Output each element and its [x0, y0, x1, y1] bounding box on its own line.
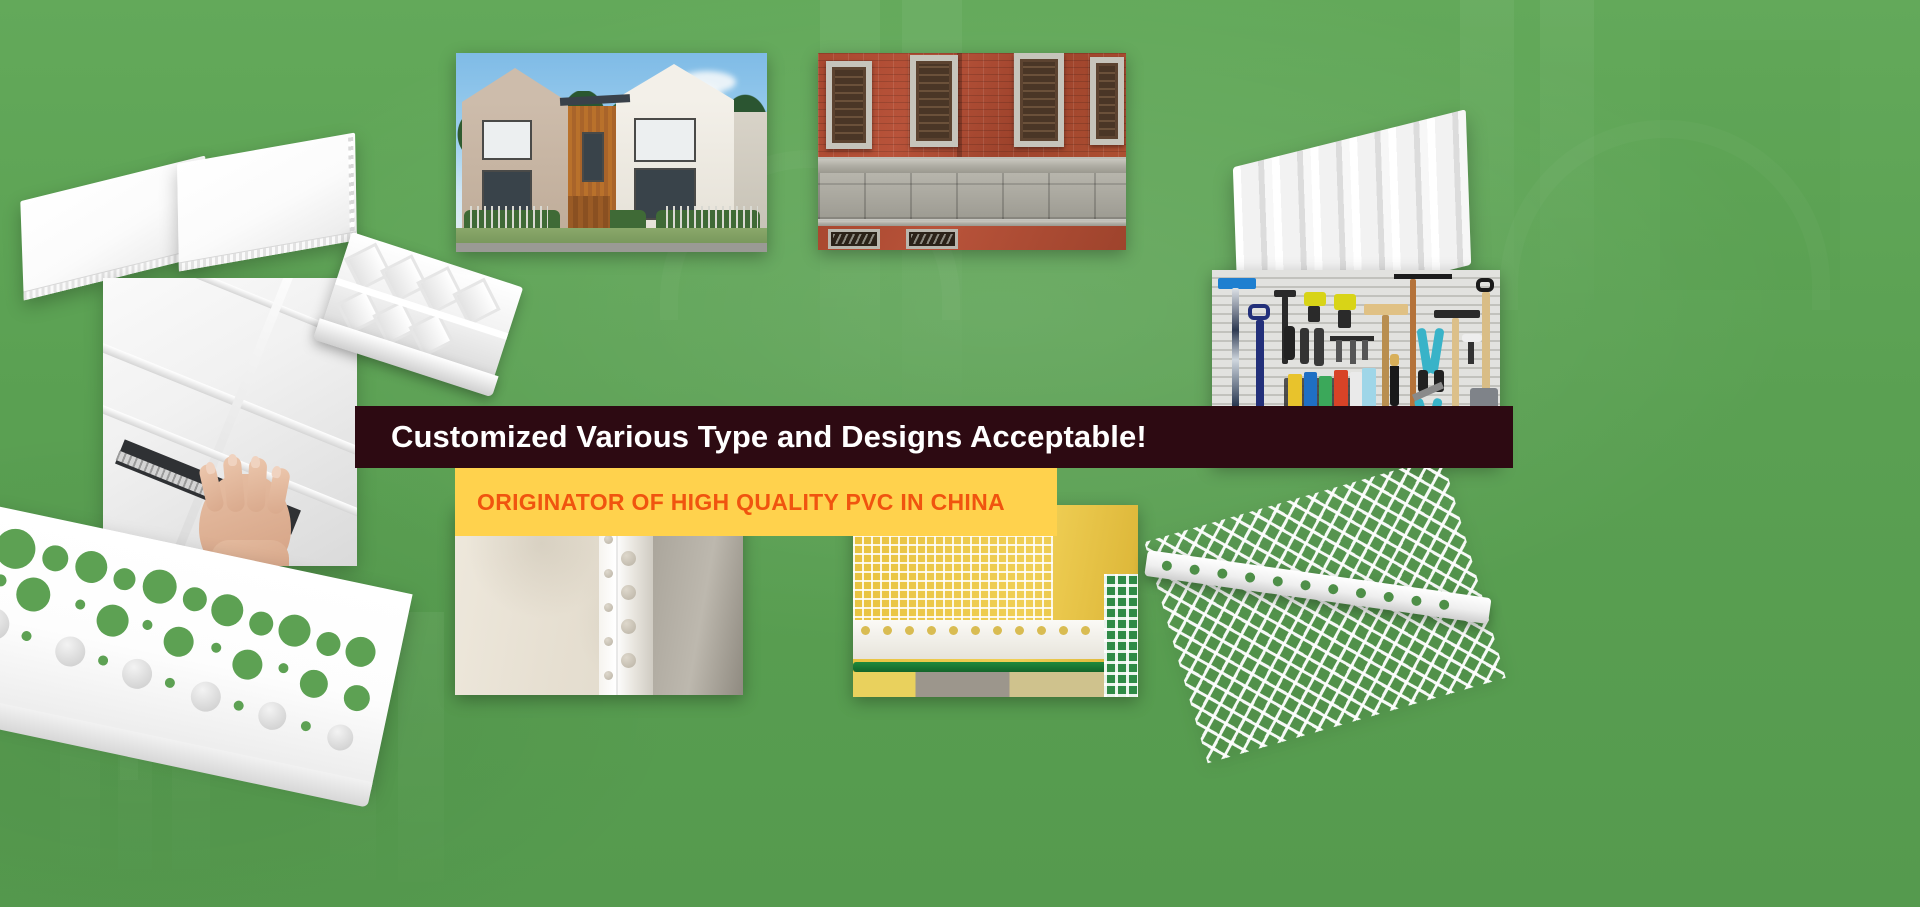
brick-building-corner-photo — [818, 53, 1126, 250]
subheadline-banner: ORIGINATOR OF HIGH QUALITY PVC IN CHINA — [455, 468, 1057, 536]
promotional-banner: Customized Various Type and Designs Acce… — [0, 0, 1920, 907]
headline-banner: Customized Various Type and Designs Acce… — [355, 406, 1513, 468]
subheadline-text: ORIGINATOR OF HIGH QUALITY PVC IN CHINA — [455, 489, 1005, 516]
townhouses-exterior-photo — [456, 53, 767, 252]
headline-text: Customized Various Type and Designs Acce… — [355, 419, 1147, 455]
